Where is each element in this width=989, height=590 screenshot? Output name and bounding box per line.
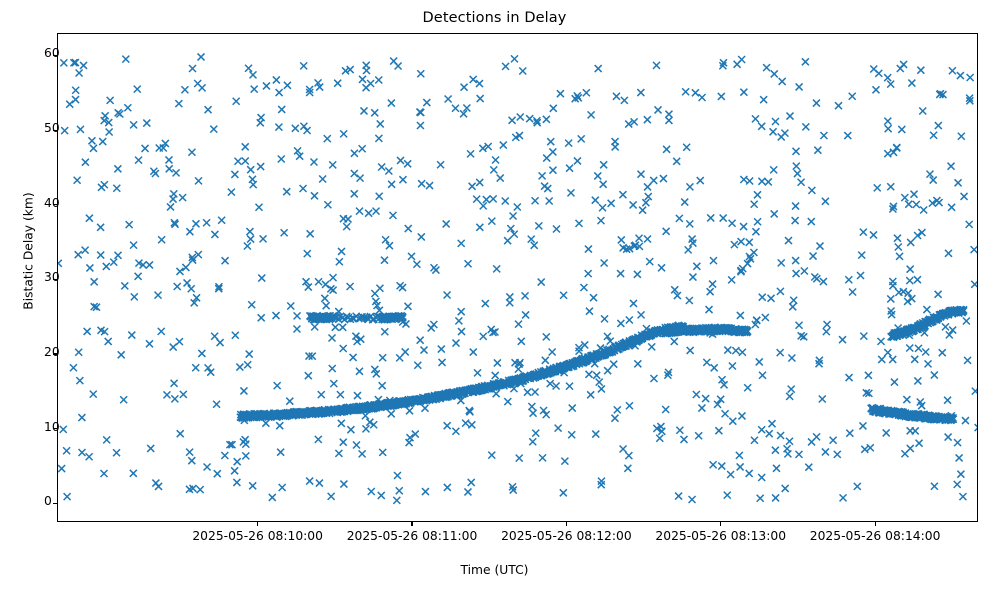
y-tick-label: 40 bbox=[44, 196, 47, 210]
y-tick-label: 20 bbox=[44, 345, 47, 359]
y-tick-label: 50 bbox=[44, 121, 47, 135]
x-tick-mark bbox=[720, 522, 721, 526]
x-axis-label: Time (UTC) bbox=[0, 563, 989, 577]
page-title: Detections in Delay bbox=[0, 10, 989, 26]
x-tick-mark bbox=[411, 522, 412, 526]
plot-area bbox=[57, 33, 978, 522]
x-tick-label: 2025-05-26 08:13:00 bbox=[655, 529, 786, 543]
y-tick-mark bbox=[53, 503, 57, 504]
x-tick-label: 2025-05-26 08:12:00 bbox=[501, 529, 632, 543]
y-tick-label: 30 bbox=[44, 270, 47, 284]
x-tick-label: 2025-05-26 08:11:00 bbox=[347, 529, 478, 543]
matplotlib-figure: Detections in Delay 0102030405060 2025-0… bbox=[0, 0, 989, 590]
y-tick-label: 60 bbox=[44, 46, 47, 60]
x-tick-mark bbox=[566, 522, 567, 526]
x-tick-label: 2025-05-26 08:10:00 bbox=[192, 529, 323, 543]
scatter-points-layer bbox=[58, 34, 978, 522]
x-tick-label: 2025-05-26 08:14:00 bbox=[810, 529, 941, 543]
y-axis-label: Bistatic Delay (km) bbox=[22, 7, 36, 496]
y-tick-label: 0 bbox=[44, 494, 47, 508]
marker-group bbox=[58, 53, 978, 503]
x-tick-mark bbox=[875, 522, 876, 526]
x-tick-mark bbox=[257, 522, 258, 526]
y-tick-label: 10 bbox=[44, 420, 47, 434]
